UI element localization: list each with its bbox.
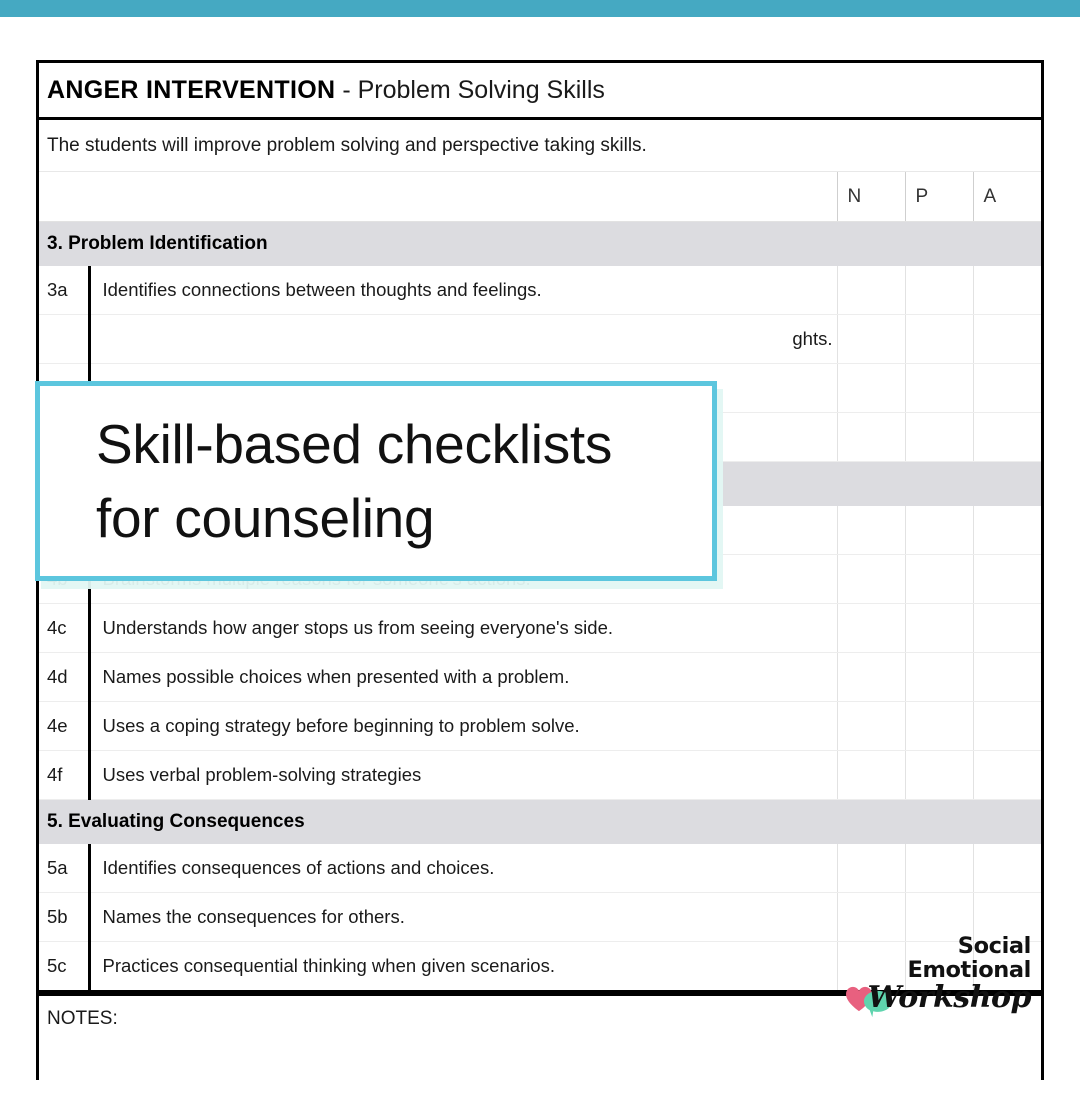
row-description: Names the consequences for others.	[89, 893, 837, 942]
mark-cell-p[interactable]	[905, 653, 973, 702]
mark-cell-p[interactable]	[905, 844, 973, 893]
callout-line-1: Skill-based checklists	[96, 407, 712, 481]
table-row[interactable]: 5a Identifies consequences of actions an…	[39, 844, 1041, 893]
mark-cell-a[interactable]	[973, 555, 1041, 604]
table-row[interactable]: 3a Identifies connections between though…	[39, 266, 1041, 315]
logo-second-line: Workshop	[839, 982, 1031, 1018]
sheet-title-row: ANGER INTERVENTION - Problem Solving Ski…	[39, 63, 1041, 120]
mark-cell-a[interactable]	[973, 844, 1041, 893]
row-description: ghts.	[89, 315, 837, 364]
mark-cell-n[interactable]	[837, 364, 905, 413]
table-row[interactable]: 4d Names possible choices when presented…	[39, 653, 1041, 702]
row-description: Identifies consequences of actions and c…	[89, 844, 837, 893]
mark-cell-p[interactable]	[905, 604, 973, 653]
mark-cell-p[interactable]	[905, 751, 973, 800]
mark-cell-a[interactable]	[973, 653, 1041, 702]
mark-cell-a[interactable]	[973, 702, 1041, 751]
column-header-p: P	[905, 172, 973, 222]
mark-cell-a[interactable]	[973, 315, 1041, 364]
section-header-row: 5. Evaluating Consequences	[39, 800, 1041, 845]
mark-cell-p[interactable]	[905, 555, 973, 604]
mark-cell-p[interactable]	[905, 364, 973, 413]
mark-cell-n[interactable]	[837, 604, 905, 653]
section-heading-3: 3. Problem Identification	[39, 222, 1041, 267]
mark-cell-n[interactable]	[837, 506, 905, 555]
row-code: 3a	[39, 266, 89, 315]
mark-cell-a[interactable]	[973, 604, 1041, 653]
callout-overlay: Skill-based checklists for counseling	[35, 381, 717, 581]
row-code: 4d	[39, 653, 89, 702]
section-header-row: 3. Problem Identification	[39, 222, 1041, 267]
row-description: Practices consequential thinking when gi…	[89, 942, 837, 992]
logo-text-script: Workshop	[867, 980, 1031, 1015]
row-code: 5c	[39, 942, 89, 992]
row-code	[39, 315, 89, 364]
row-description: Identifies connections between thoughts …	[89, 266, 837, 315]
notes-section[interactable]: NOTES: Social Emotional Workshop	[39, 993, 1041, 1093]
mark-cell-n[interactable]	[837, 653, 905, 702]
row-code: 4e	[39, 702, 89, 751]
row-code: 5a	[39, 844, 89, 893]
mark-cell-p[interactable]	[905, 413, 973, 462]
top-accent-bar	[0, 0, 1080, 17]
callout-line-2: for counseling	[96, 481, 712, 555]
column-header-n: N	[837, 172, 905, 222]
objective-text: The students will improve problem solvin…	[39, 120, 1041, 172]
mark-cell-p[interactable]	[905, 506, 973, 555]
skills-checklist-table: N P A 3. Problem Identification 3a Ident…	[39, 172, 1041, 993]
page-title-subtitle: - Problem Solving Skills	[342, 76, 605, 105]
row-code: 5b	[39, 893, 89, 942]
row-code: 4f	[39, 751, 89, 800]
mark-cell-p[interactable]	[905, 266, 973, 315]
table-header-row: N P A	[39, 172, 1041, 222]
mark-cell-a[interactable]	[973, 413, 1041, 462]
mark-cell-n[interactable]	[837, 555, 905, 604]
table-row[interactable]: 4f Uses verbal problem-solving strategie…	[39, 751, 1041, 800]
row-code: 4c	[39, 604, 89, 653]
mark-cell-n[interactable]	[837, 413, 905, 462]
section-heading-5: 5. Evaluating Consequences	[39, 800, 1041, 845]
mark-cell-a[interactable]	[973, 364, 1041, 413]
logo-text-primary: Social Emotional	[839, 934, 1031, 982]
mark-cell-p[interactable]	[905, 315, 973, 364]
table-row[interactable]: ghts.	[39, 315, 1041, 364]
mark-cell-n[interactable]	[837, 844, 905, 893]
row-description: Names possible choices when presented wi…	[89, 653, 837, 702]
row-description: Understands how anger stops us from seei…	[89, 604, 837, 653]
page-title-strong: ANGER INTERVENTION	[47, 76, 335, 105]
table-row[interactable]: 4e Uses a coping strategy before beginni…	[39, 702, 1041, 751]
brand-logo: Social Emotional Workshop	[839, 934, 1031, 994]
mark-cell-n[interactable]	[837, 315, 905, 364]
mark-cell-a[interactable]	[973, 506, 1041, 555]
checklist-sheet: ANGER INTERVENTION - Problem Solving Ski…	[36, 60, 1044, 1080]
header-code-cell	[39, 172, 89, 222]
mark-cell-a[interactable]	[973, 751, 1041, 800]
table-row[interactable]: 4c Understands how anger stops us from s…	[39, 604, 1041, 653]
mark-cell-p[interactable]	[905, 702, 973, 751]
header-desc-cell	[89, 172, 837, 222]
mark-cell-n[interactable]	[837, 266, 905, 315]
notes-label: NOTES:	[47, 1008, 118, 1029]
column-header-a: A	[973, 172, 1041, 222]
mark-cell-n[interactable]	[837, 751, 905, 800]
row-description-fragment: ghts.	[792, 328, 832, 349]
row-description: Uses verbal problem-solving strategies	[89, 751, 837, 800]
mark-cell-a[interactable]	[973, 266, 1041, 315]
row-description: Uses a coping strategy before beginning …	[89, 702, 837, 751]
mark-cell-n[interactable]	[837, 702, 905, 751]
